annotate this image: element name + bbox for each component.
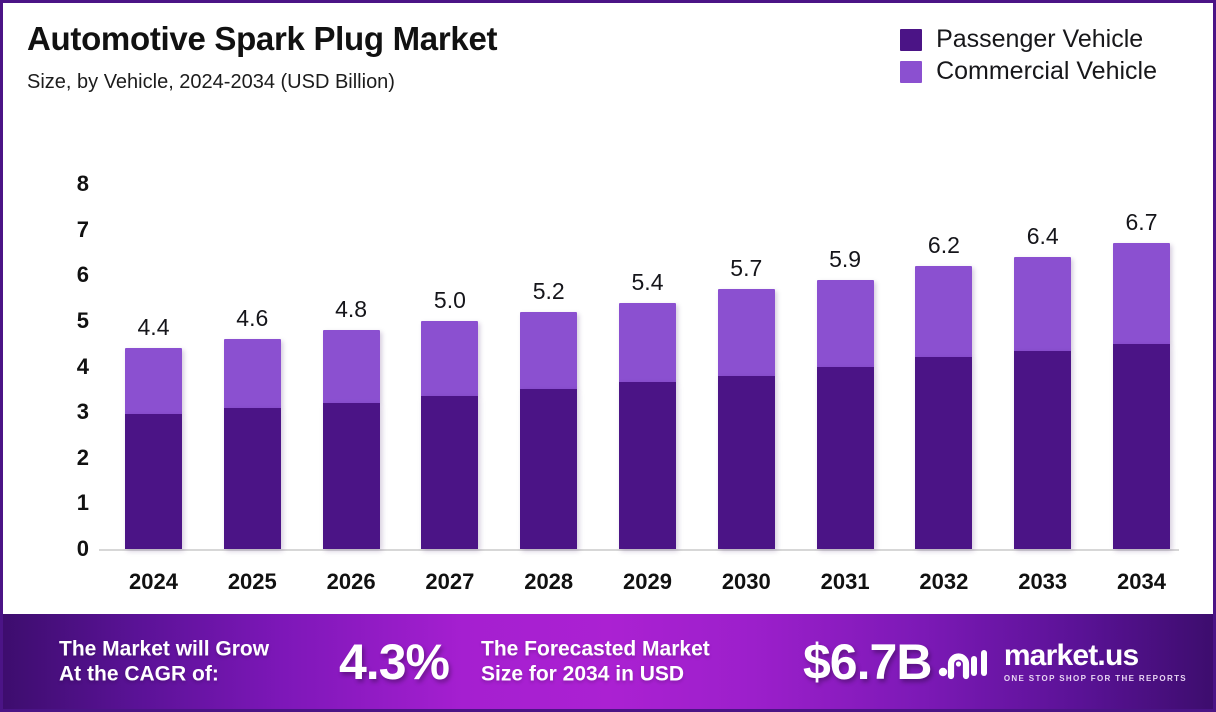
stacked-bar[interactable] bbox=[619, 303, 676, 549]
cagr-caption: The Market will Grow At the CAGR of: bbox=[59, 636, 269, 687]
y-axis-tick-label: 0 bbox=[77, 538, 89, 560]
y-axis: 012345678 bbox=[55, 184, 89, 556]
forecast-size-caption: The Forecasted Market Size for 2034 in U… bbox=[481, 636, 710, 687]
bar-value-label: 5.4 bbox=[632, 271, 664, 294]
brand-logo: market.us ONE STOP SHOP FOR THE REPORTS bbox=[938, 641, 1187, 683]
bar-group[interactable]: 4.42024 bbox=[125, 348, 182, 549]
x-axis-tick-label: 2027 bbox=[425, 569, 474, 595]
bar-segment-passenger-vehicle[interactable] bbox=[224, 408, 281, 549]
bar-group[interactable]: 5.02027 bbox=[421, 321, 478, 549]
bar-group[interactable]: 6.42033 bbox=[1014, 257, 1071, 549]
y-axis-tick-label: 3 bbox=[77, 401, 89, 423]
bar-group[interactable]: 6.72034 bbox=[1113, 243, 1170, 549]
bar-group[interactable]: 5.72030 bbox=[718, 289, 775, 549]
bar-segment-passenger-vehicle[interactable] bbox=[915, 357, 972, 549]
stacked-bar[interactable] bbox=[520, 312, 577, 549]
footer-banner: The Market will Grow At the CAGR of: 4.3… bbox=[3, 614, 1213, 709]
bar-value-label: 4.6 bbox=[236, 307, 268, 330]
y-axis-tick-label: 5 bbox=[77, 310, 89, 332]
bar-segment-commercial-vehicle[interactable] bbox=[1014, 257, 1071, 351]
brand-name: market.us bbox=[1004, 641, 1187, 671]
bar-segment-passenger-vehicle[interactable] bbox=[1014, 351, 1071, 549]
stacked-bar[interactable] bbox=[915, 266, 972, 549]
stacked-bar[interactable] bbox=[1014, 257, 1071, 549]
bar-group[interactable]: 4.82026 bbox=[323, 330, 380, 549]
bar-segment-commercial-vehicle[interactable] bbox=[323, 330, 380, 403]
bar-series-container: 4.420244.620254.820265.020275.220285.420… bbox=[99, 184, 1179, 549]
bar-segment-passenger-vehicle[interactable] bbox=[421, 396, 478, 549]
forecast-size-caption-line2: Size for 2034 in USD bbox=[481, 662, 710, 688]
bar-segment-commercial-vehicle[interactable] bbox=[1113, 243, 1170, 343]
x-axis-tick-label: 2028 bbox=[524, 569, 573, 595]
y-axis-tick-label: 1 bbox=[77, 492, 89, 514]
bar-value-label: 6.2 bbox=[928, 234, 960, 257]
bar-group[interactable]: 5.92031 bbox=[817, 280, 874, 549]
cagr-caption-line2: At the CAGR of: bbox=[59, 662, 269, 688]
forecast-size-value: $6.7B bbox=[803, 637, 931, 687]
bar-segment-commercial-vehicle[interactable] bbox=[520, 312, 577, 390]
bar-segment-commercial-vehicle[interactable] bbox=[915, 266, 972, 357]
chart-plot-area: 012345678 4.420244.620254.820265.020275.… bbox=[3, 3, 1216, 615]
bar-value-label: 4.4 bbox=[138, 316, 170, 339]
brand-tagline: ONE STOP SHOP FOR THE REPORTS bbox=[1004, 675, 1187, 683]
bar-segment-passenger-vehicle[interactable] bbox=[125, 414, 182, 549]
bar-segment-passenger-vehicle[interactable] bbox=[718, 376, 775, 549]
stacked-bar[interactable] bbox=[323, 330, 380, 549]
bar-value-label: 5.2 bbox=[533, 280, 565, 303]
bar-segment-passenger-vehicle[interactable] bbox=[619, 382, 676, 549]
stacked-bar[interactable] bbox=[421, 321, 478, 549]
x-axis-tick-label: 2030 bbox=[722, 569, 771, 595]
bar-segment-commercial-vehicle[interactable] bbox=[718, 289, 775, 376]
bar-value-label: 5.7 bbox=[730, 257, 762, 280]
bar-value-label: 6.4 bbox=[1027, 225, 1059, 248]
y-axis-tick-label: 4 bbox=[77, 356, 89, 378]
bar-value-label: 4.8 bbox=[335, 298, 367, 321]
stacked-bar[interactable] bbox=[125, 348, 182, 549]
x-axis-baseline bbox=[99, 549, 1179, 551]
y-axis-tick-label: 2 bbox=[77, 447, 89, 469]
bar-group[interactable]: 5.42029 bbox=[619, 303, 676, 549]
stacked-bar[interactable] bbox=[817, 280, 874, 549]
bar-segment-commercial-vehicle[interactable] bbox=[817, 280, 874, 367]
bar-segment-commercial-vehicle[interactable] bbox=[125, 348, 182, 414]
bar-group[interactable]: 5.22028 bbox=[520, 312, 577, 549]
cagr-caption-line1: The Market will Grow bbox=[59, 636, 269, 662]
bar-segment-commercial-vehicle[interactable] bbox=[224, 339, 281, 407]
x-axis-tick-label: 2026 bbox=[327, 569, 376, 595]
y-axis-tick-label: 8 bbox=[77, 173, 89, 195]
y-axis-tick-label: 7 bbox=[77, 219, 89, 241]
x-axis-tick-label: 2033 bbox=[1018, 569, 1067, 595]
x-axis-tick-label: 2029 bbox=[623, 569, 672, 595]
stacked-bar[interactable] bbox=[224, 339, 281, 549]
x-axis-tick-label: 2034 bbox=[1117, 569, 1166, 595]
bar-value-label: 6.7 bbox=[1126, 211, 1158, 234]
stacked-bar[interactable] bbox=[1113, 243, 1170, 549]
forecast-size-caption-line1: The Forecasted Market bbox=[481, 636, 710, 662]
bar-segment-passenger-vehicle[interactable] bbox=[520, 389, 577, 549]
market-us-logo-icon bbox=[938, 644, 994, 680]
bar-segment-passenger-vehicle[interactable] bbox=[1113, 344, 1170, 549]
cagr-value: 4.3% bbox=[339, 637, 449, 687]
x-axis-tick-label: 2025 bbox=[228, 569, 277, 595]
bar-value-label: 5.9 bbox=[829, 248, 861, 271]
x-axis-tick-label: 2024 bbox=[129, 569, 178, 595]
bar-segment-commercial-vehicle[interactable] bbox=[619, 303, 676, 383]
bar-segment-commercial-vehicle[interactable] bbox=[421, 321, 478, 396]
bar-segment-passenger-vehicle[interactable] bbox=[817, 367, 874, 550]
y-axis-tick-label: 6 bbox=[77, 264, 89, 286]
bar-group[interactable]: 6.22032 bbox=[915, 266, 972, 549]
x-axis-tick-label: 2032 bbox=[919, 569, 968, 595]
x-axis-tick-label: 2031 bbox=[821, 569, 870, 595]
infographic-canvas: Automotive Spark Plug Market Size, by Ve… bbox=[0, 0, 1216, 712]
bar-value-label: 5.0 bbox=[434, 289, 466, 312]
bar-group[interactable]: 4.62025 bbox=[224, 339, 281, 549]
bar-segment-passenger-vehicle[interactable] bbox=[323, 403, 380, 549]
brand-text-block: market.us ONE STOP SHOP FOR THE REPORTS bbox=[1004, 641, 1187, 683]
stacked-bar[interactable] bbox=[718, 289, 775, 549]
